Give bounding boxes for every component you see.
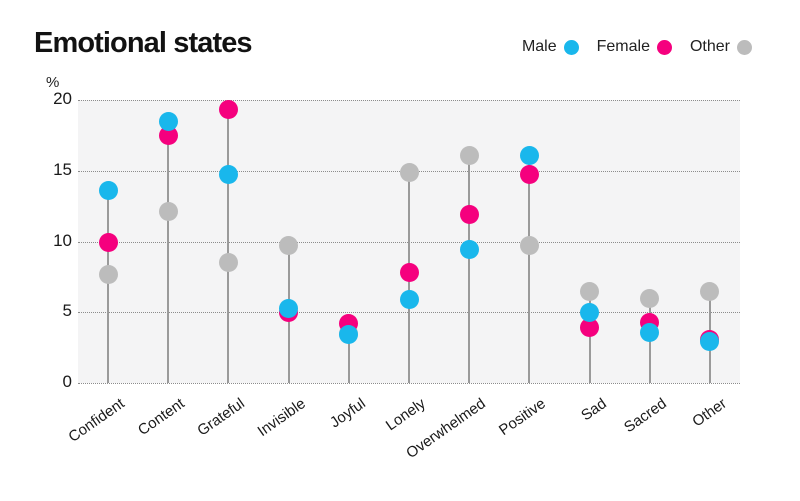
data-point-other[interactable]: [520, 236, 539, 255]
data-point-other[interactable]: [99, 265, 118, 284]
x-axis-tick-label: Confident: [65, 395, 127, 446]
legend-item-other[interactable]: Other: [690, 38, 752, 56]
legend-label-male: Male: [522, 38, 557, 56]
legend-label-female: Female: [597, 38, 650, 56]
data-point-male[interactable]: [279, 299, 298, 318]
stem-line: [107, 191, 109, 383]
x-axis-tick-label: Other: [689, 395, 729, 430]
data-point-female[interactable]: [460, 205, 479, 224]
emotional-states-chart: Emotional states Male Female Other % 051…: [0, 0, 800, 501]
plot-area: [78, 100, 740, 383]
x-axis-tick-label: Positive: [496, 395, 549, 439]
legend-label-other: Other: [690, 38, 730, 56]
page-title: Emotional states: [34, 27, 252, 60]
stem-line: [468, 155, 470, 383]
data-point-female[interactable]: [219, 100, 238, 119]
data-point-female[interactable]: [99, 233, 118, 252]
data-point-male[interactable]: [99, 181, 118, 200]
data-point-female[interactable]: [520, 165, 539, 184]
x-axis-tick-label: Content: [135, 395, 188, 439]
data-point-male[interactable]: [520, 146, 539, 165]
chart-legend: Male Female Other: [522, 38, 752, 56]
legend-item-male[interactable]: Male: [522, 38, 579, 56]
stem-line: [528, 155, 530, 383]
y-axis-tick-label: 10: [0, 231, 72, 251]
data-point-other[interactable]: [640, 289, 659, 308]
legend-swatch-other-circle-icon: [737, 40, 752, 55]
data-point-male[interactable]: [580, 303, 599, 322]
data-point-male[interactable]: [700, 332, 719, 351]
data-point-other[interactable]: [400, 163, 419, 182]
legend-item-female[interactable]: Female: [597, 38, 672, 56]
y-axis-tick-label: 20: [0, 89, 72, 109]
x-axis-tick-label: Sacred: [621, 395, 670, 436]
x-axis-tick-label: Grateful: [195, 395, 248, 440]
data-point-male[interactable]: [219, 165, 238, 184]
legend-swatch-male-circle-icon: [564, 40, 579, 55]
gridline: [78, 383, 740, 384]
x-axis-tick-label: Joyful: [327, 395, 369, 431]
stem-line: [227, 110, 229, 383]
data-point-other[interactable]: [460, 146, 479, 165]
x-axis-tick-label: Invisible: [254, 395, 308, 440]
data-point-other[interactable]: [580, 282, 599, 301]
data-point-male[interactable]: [640, 323, 659, 342]
data-point-male[interactable]: [460, 240, 479, 259]
data-point-male[interactable]: [339, 325, 358, 344]
y-axis-tick-label: 5: [0, 301, 72, 321]
x-axis-tick-label: Sad: [578, 395, 610, 424]
data-point-male[interactable]: [400, 290, 419, 309]
legend-swatch-female-circle-icon: [657, 40, 672, 55]
data-point-female[interactable]: [400, 263, 419, 282]
data-point-other[interactable]: [279, 236, 298, 255]
data-point-other[interactable]: [219, 253, 238, 272]
y-axis-tick-label: 0: [0, 372, 72, 392]
stem-line: [167, 121, 169, 383]
gridline: [78, 100, 740, 101]
data-point-other[interactable]: [159, 202, 178, 221]
data-point-other[interactable]: [700, 282, 719, 301]
x-axis-tick-label: Lonely: [383, 395, 429, 434]
y-axis-tick-label: 15: [0, 160, 72, 180]
data-point-male[interactable]: [159, 112, 178, 131]
